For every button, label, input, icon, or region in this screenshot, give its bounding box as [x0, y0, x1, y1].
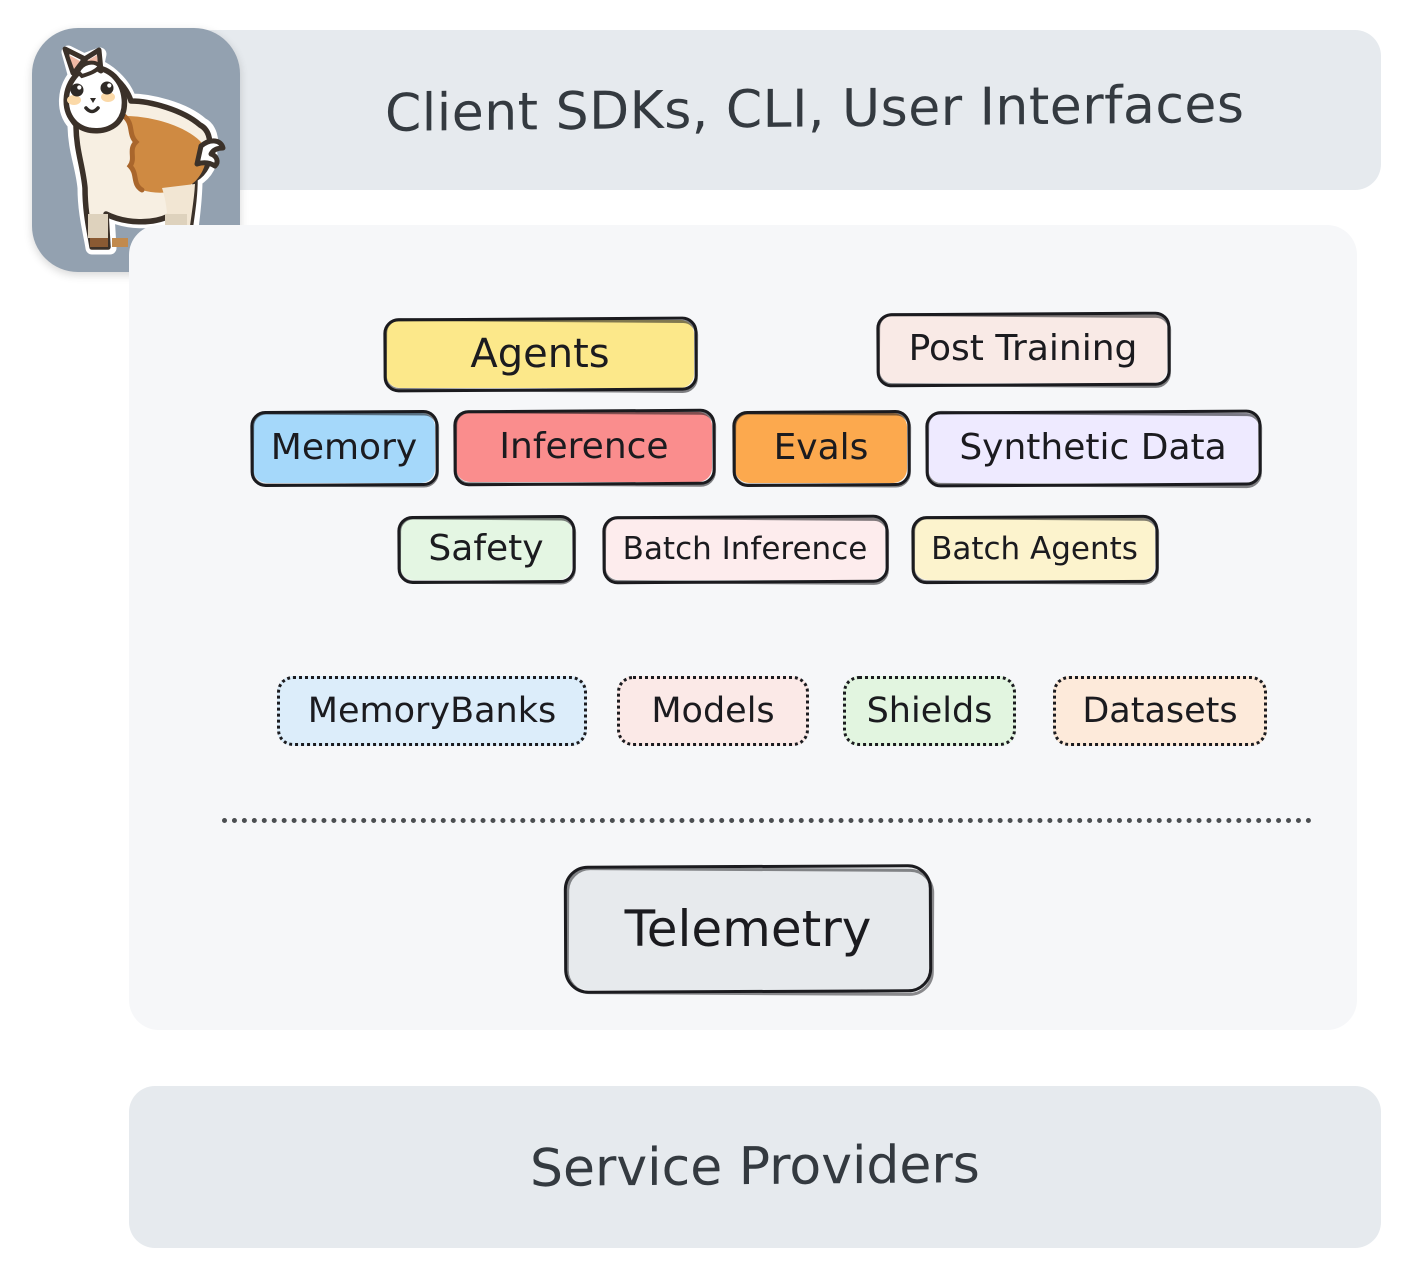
api-box-shields[interactable]: Shields [843, 676, 1016, 746]
api-box-batch-agents[interactable]: Batch Agents [914, 518, 1155, 580]
api-box-memorybanks[interactable]: MemoryBanks [277, 676, 587, 746]
api-box-inference[interactable]: Inference [456, 412, 712, 482]
api-box-label: Memory [271, 430, 417, 466]
api-box-label: Batch Inference [623, 534, 868, 565]
api-box-agents[interactable]: Agents [386, 320, 694, 388]
api-box-safety[interactable]: Safety [400, 518, 572, 580]
api-box-label: Agents [470, 334, 609, 374]
diagram-canvas: Client SDKs, CLI, User Interfaces [0, 0, 1410, 1268]
api-box-models[interactable]: Models [617, 676, 809, 746]
api-box-label: Models [651, 694, 774, 729]
api-box-memory[interactable]: Memory [253, 413, 435, 483]
api-box-label: Safety [428, 531, 543, 567]
api-box-label: MemoryBanks [308, 694, 557, 729]
section-divider [222, 818, 1312, 823]
telemetry-label: Telemetry [625, 900, 872, 958]
api-box-label: Batch Agents [931, 534, 1138, 565]
api-box-synthetic-data[interactable]: Synthetic Data [928, 413, 1258, 483]
page-title: Client SDKs, CLI, User Interfaces [265, 75, 1245, 145]
footer-title: Service Providers [530, 1135, 980, 1199]
header-band: Client SDKs, CLI, User Interfaces [129, 30, 1381, 190]
api-box-datasets[interactable]: Datasets [1053, 676, 1267, 746]
api-box-label: Post Training [909, 331, 1138, 367]
api-box-label: Inference [499, 429, 668, 465]
api-box-label: Synthetic Data [959, 430, 1226, 466]
footer-band: Service Providers [129, 1086, 1381, 1248]
api-box-batch-inference[interactable]: Batch Inference [605, 518, 885, 580]
api-box-evals[interactable]: Evals [735, 413, 907, 483]
api-box-label: Shields [867, 694, 993, 729]
telemetry-box[interactable]: Telemetry [567, 868, 929, 990]
api-box-label: Evals [774, 430, 869, 466]
api-box-label: Datasets [1082, 694, 1237, 729]
api-box-post-training[interactable]: Post Training [879, 315, 1167, 383]
